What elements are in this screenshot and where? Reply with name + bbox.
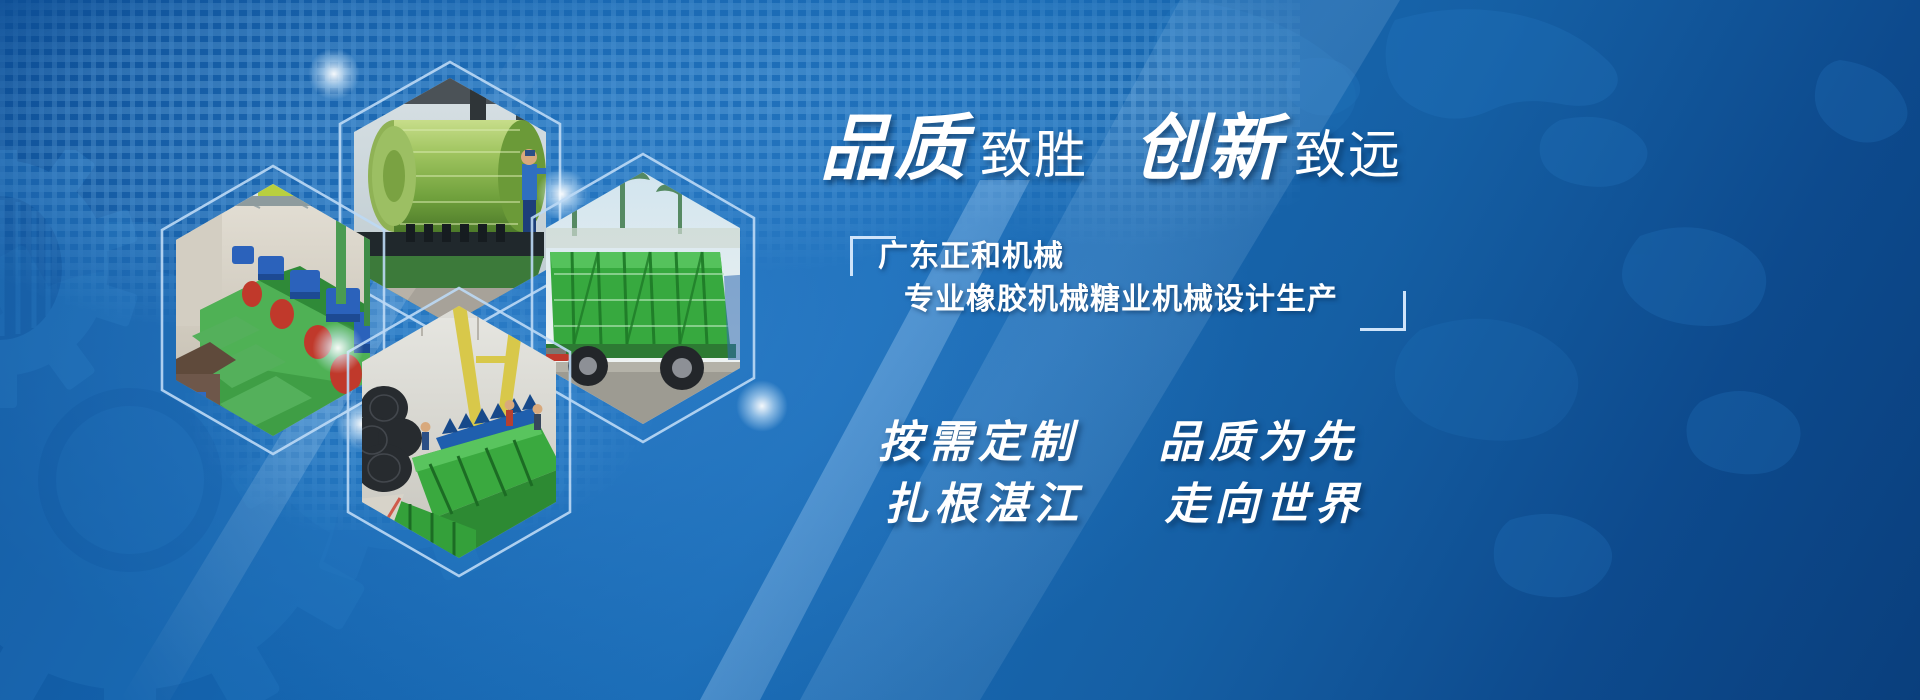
slogan-2-right: 走向世界 [1165,479,1365,530]
company-block: 广东正和机械 专业橡胶机械糖业机械设计生产 [850,236,1370,321]
slogan-2-left: 扎根湛江 [884,479,1084,530]
company-name: 广东正和机械 [850,236,1370,279]
hex-photo-conveyor-assembly[interactable] [326,282,592,582]
corner-bracket-top-left [850,236,896,276]
slogan-1-left: 按需定制 [878,417,1078,468]
company-business: 专业橡胶机械糖业机械设计生产 [850,279,1370,322]
headline-thin-1: 致胜 [980,130,1088,182]
banner-copy: 品质 致胜 创新 致远 广东正和机械 专业橡胶机械糖业机械设计生产 按需定制 品… [820,0,1920,700]
slogan-1-right: 品质为先 [1159,417,1359,468]
hexagon-photo-collage [140,40,880,600]
headline-thin-2: 致远 [1294,130,1402,182]
headline-brush-2: 创新 [1134,112,1282,184]
headline: 品质 致胜 创新 致远 [820,112,1402,184]
headline-brush-1: 品质 [820,112,968,184]
slogan-group: 按需定制 品质为先 扎根湛江 走向世界 [878,412,1365,537]
slogan-line-1: 按需定制 品质为先 [878,412,1365,474]
promo-banner: 品质 致胜 创新 致远 广东正和机械 专业橡胶机械糖业机械设计生产 按需定制 品… [0,0,1920,700]
corner-bracket-bottom-right [1360,291,1406,331]
slogan-line-2: 扎根湛江 走向世界 [878,474,1365,536]
